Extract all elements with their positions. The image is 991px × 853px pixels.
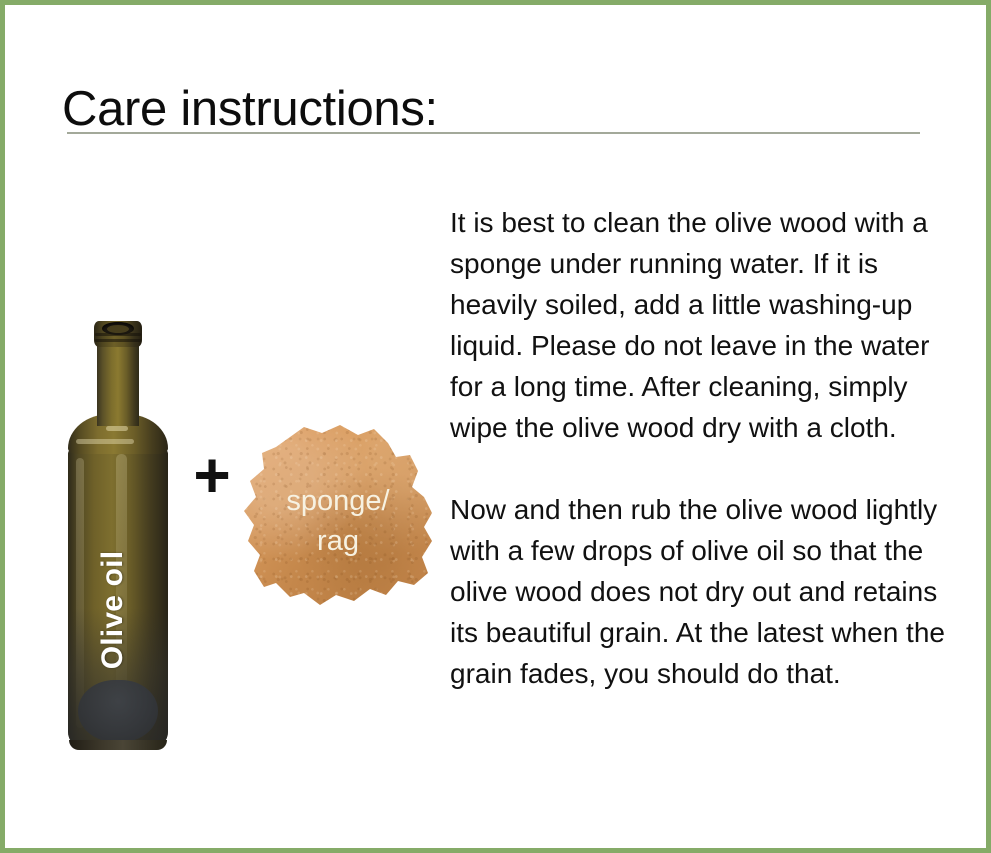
bottle-label: Olive oil <box>96 510 130 710</box>
sponge-rag-figure: sponge/ rag <box>238 421 438 621</box>
bottle-thread-icon <box>95 339 141 342</box>
bottle-highlight <box>76 439 134 444</box>
plus-sign-icon: + <box>186 446 238 504</box>
bottle-base-edge <box>69 740 167 750</box>
olive-oil-bottle-figure: Olive oil <box>62 308 192 770</box>
bottle-highlight <box>106 426 128 431</box>
sponge-label: sponge/ rag <box>246 481 430 561</box>
page-title: Care instructions: <box>62 80 438 138</box>
care-instructions-text: It is best to clean the olive wood with … <box>450 202 950 694</box>
bottle-mouth-inner <box>107 325 129 333</box>
title-divider <box>67 132 920 134</box>
care-instructions-slide: Care instructions: Olive oil + sponge/ r… <box>0 0 991 853</box>
care-paragraph-1: It is best to clean the olive wood with … <box>450 202 950 448</box>
care-paragraph-2: Now and then rub the olive wood lightly … <box>450 489 950 694</box>
